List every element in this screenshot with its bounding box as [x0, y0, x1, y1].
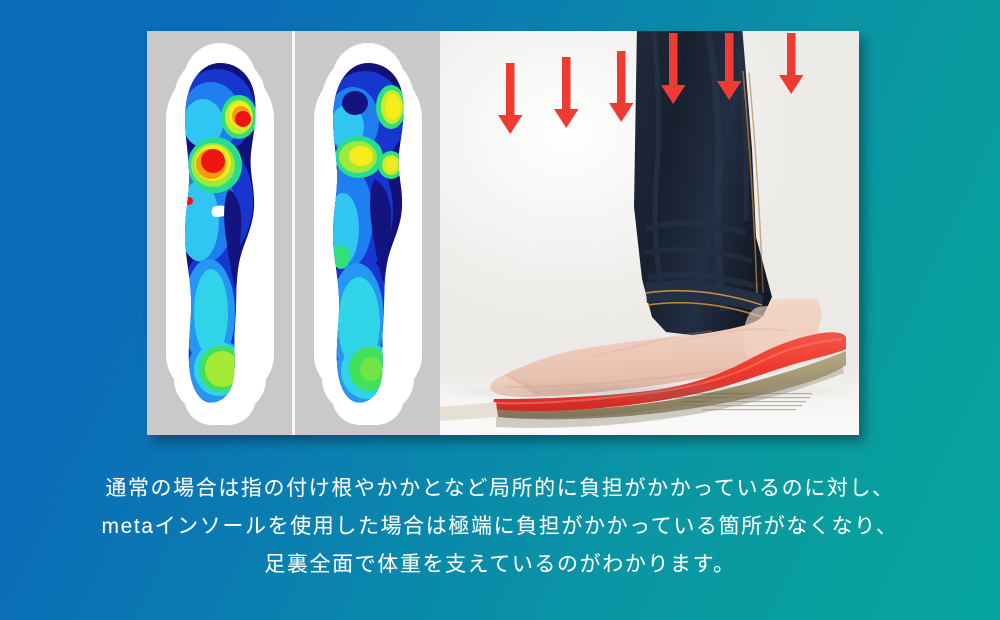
caption-block: 通常の場合は指の付け根やかかとなど局所的に負担がかかっているのに対し、 meta… [0, 470, 1000, 584]
insole-front-tip [440, 402, 498, 421]
meta-insole-foot-pressure-map: meta インソール [295, 31, 440, 435]
promo-graphic-root: meta インソール [0, 0, 1000, 620]
caption-line-2: metaインソールを使用した場合は極端に負担がかかっている箇所がなくなり、 [0, 508, 1000, 546]
jeans-leg [634, 31, 772, 336]
pressure-arrow-6 [779, 33, 804, 94]
caption-line-1: 通常の場合は指の付け根やかかとなど局所的に負担がかかっているのに対し、 [0, 470, 1000, 508]
photo-ground-shadow [450, 383, 850, 401]
meta-pressure-blob [325, 61, 411, 405]
pressure-arrow-3 [609, 51, 634, 122]
normal-pressure-blob [177, 61, 263, 405]
pressure-comparison-panel: meta インソール [147, 31, 859, 435]
pressure-arrow-1 [498, 63, 523, 134]
foot-on-insole-photo [440, 31, 859, 435]
normal-foot-pressure-map [147, 31, 292, 435]
pressure-arrow-2 [554, 57, 579, 128]
caption-line-3: 足裏全面で体重を支えているのがわかります。 [0, 546, 1000, 584]
photo-illustration [440, 31, 859, 435]
